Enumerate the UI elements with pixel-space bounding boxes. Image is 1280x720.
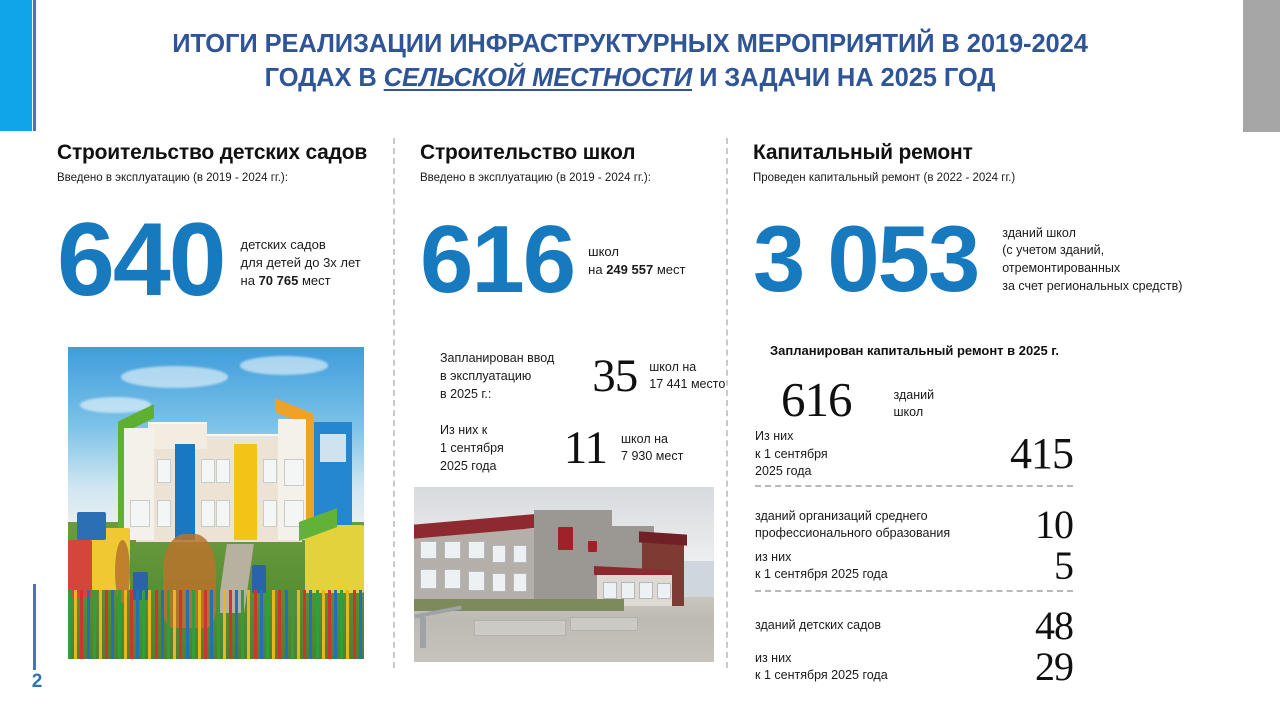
unit-line-1: школ на bbox=[621, 432, 668, 446]
schools-planned-2025-label: Запланирован ввод в эксплуатацию в 2025 … bbox=[440, 349, 554, 403]
repairs-caption-line-2: (с учетом зданий, bbox=[1002, 243, 1104, 257]
repairs-row-kindergartens: зданий детских садов 48 bbox=[755, 607, 1073, 645]
repairs-plan-headline: 616 зданий школ bbox=[781, 377, 934, 424]
column-divider-2 bbox=[726, 138, 728, 668]
slide-title-line-1: ИТОГИ РЕАЛИЗАЦИИ ИНФРАСТРУКТУРНЫХ МЕРОПР… bbox=[172, 30, 1088, 58]
repairs-row-label: из них к 1 сентября 2025 года bbox=[755, 650, 888, 685]
photo-window bbox=[639, 582, 653, 600]
text-line-1: из них bbox=[755, 550, 791, 564]
unit-line-2: школ bbox=[894, 405, 924, 419]
column-divider-1 bbox=[393, 138, 395, 668]
unit-line-2: 7 930 мест bbox=[621, 449, 683, 463]
schools-caption-line-1: школ bbox=[588, 244, 619, 259]
page-number: 2 bbox=[24, 672, 50, 691]
slide-title-line-2-after: И ЗАДАЧИ НА 2025 ГОД bbox=[692, 64, 995, 92]
photo-window bbox=[657, 583, 671, 599]
repairs-caption-line-1: зданий школ bbox=[1002, 226, 1076, 240]
photo-window bbox=[130, 500, 150, 527]
text-line-2: профессионального образования bbox=[755, 526, 950, 540]
kindergartens-caption-line-2: для детей до 3х лет bbox=[241, 255, 361, 270]
repairs-hero: 3 053 зданий школ (с учетом зданий, отре… bbox=[753, 216, 1182, 302]
schools-column: Строительство школ Введено в эксплуатаци… bbox=[420, 141, 720, 186]
schools-planned-september-unit: школ на 7 930 мест bbox=[621, 431, 683, 465]
kindergartens-heading: Строительство детских садов bbox=[57, 141, 387, 165]
repairs-big-number: 3 053 bbox=[753, 216, 978, 302]
photo-play-panel bbox=[252, 565, 267, 593]
schools-caption-suffix: мест bbox=[653, 262, 685, 277]
kindergartens-hero: 640 детских садов для детей до 3х лет на… bbox=[57, 213, 361, 309]
schools-planned-2025: Запланирован ввод в эксплуатацию в 2025 … bbox=[440, 349, 725, 403]
kindergartens-column: Строительство детских садов Введено в эк… bbox=[57, 141, 387, 186]
schools-seats-value: 249 557 bbox=[606, 262, 653, 277]
decor-blue-rule-bottom bbox=[33, 584, 36, 670]
schools-caption-prefix: на bbox=[588, 262, 606, 277]
photo-window bbox=[157, 459, 171, 483]
photo-cloud bbox=[240, 356, 329, 375]
text-line-2: к 1 сентября 2025 года bbox=[755, 567, 888, 581]
unit-line-1: школ на bbox=[649, 360, 696, 374]
photo-window bbox=[492, 545, 506, 563]
photo-handrail-post bbox=[420, 617, 426, 649]
text-line-2: к 1 сентября bbox=[755, 447, 828, 461]
school-photo bbox=[414, 487, 714, 662]
photo-school-emblem-small bbox=[588, 541, 597, 552]
schools-heading: Строительство школ bbox=[420, 141, 720, 165]
photo-wing-window-band bbox=[320, 434, 347, 462]
photo-paving bbox=[570, 617, 638, 631]
schools-caption: школ на 249 557 мест bbox=[588, 243, 685, 279]
label-line-3: в 2025 г.: bbox=[440, 387, 491, 401]
photo-stripe-blue bbox=[175, 444, 196, 541]
schools-subheading: Введено в эксплуатацию (в 2019 - 2024 гг… bbox=[420, 172, 720, 186]
kindergartens-big-number: 640 bbox=[57, 213, 225, 309]
schools-big-number: 616 bbox=[420, 216, 574, 304]
text-line-1: из них bbox=[755, 651, 791, 665]
schools-hero: 616 школ на 249 557 мест bbox=[420, 216, 685, 304]
photo-window bbox=[420, 569, 437, 589]
photo-window bbox=[263, 459, 277, 483]
decor-gray-block bbox=[1243, 0, 1280, 132]
text-line-1: зданий организаций среднего bbox=[755, 509, 928, 523]
photo-window bbox=[444, 569, 461, 589]
photo-window bbox=[216, 459, 230, 483]
photo-window bbox=[603, 582, 617, 600]
photo-window bbox=[284, 459, 304, 486]
repairs-row-value: 29 bbox=[1035, 648, 1073, 686]
label-line-2: 1 сентября bbox=[440, 441, 504, 455]
repairs-separator-2 bbox=[755, 590, 1073, 592]
repairs-row-label: из них к 1 сентября 2025 года bbox=[755, 549, 888, 584]
text-line-3: 2025 года bbox=[755, 464, 812, 478]
repairs-subheading: Проведен капитальный ремонт (в 2022 - 20… bbox=[753, 172, 1253, 186]
photo-paving bbox=[474, 620, 566, 636]
photo-cloud bbox=[121, 366, 228, 388]
label-line-1: Запланирован ввод bbox=[440, 351, 554, 365]
kindergarten-photo bbox=[68, 347, 364, 659]
text-line-1: Из них bbox=[755, 429, 793, 443]
schools-planned-2025-value: 35 bbox=[592, 354, 637, 399]
schools-planned-september-value: 11 bbox=[564, 426, 607, 471]
photo-window bbox=[468, 541, 485, 559]
photo-window bbox=[513, 573, 527, 593]
repairs-row-value: 10 bbox=[1035, 506, 1073, 544]
label-line-3: 2025 года bbox=[440, 459, 497, 473]
repairs-row-vocational-september: из них к 1 сентября 2025 года 5 bbox=[755, 547, 1073, 585]
repairs-caption-line-3: отремонтированных bbox=[1002, 261, 1120, 275]
repairs-caption: зданий школ (с учетом зданий, отремонтир… bbox=[1002, 225, 1182, 296]
photo-window bbox=[201, 500, 215, 527]
label-line-2: в эксплуатацию bbox=[440, 369, 531, 383]
repairs-row-kindergartens-september: из них к 1 сентября 2025 года 29 bbox=[755, 648, 1073, 686]
unit-line-2: 17 441 место bbox=[649, 377, 725, 391]
repairs-plan-title: Запланирован капитальный ремонт в 2025 г… bbox=[770, 343, 1059, 358]
repairs-column: Капитальный ремонт Проведен капитальный … bbox=[753, 141, 1253, 186]
photo-playset bbox=[77, 512, 107, 540]
decor-cyan-block bbox=[0, 0, 32, 131]
repairs-separator-1 bbox=[755, 485, 1073, 487]
text-line-1: зданий детских садов bbox=[755, 618, 881, 632]
kindergartens-seats-value: 70 765 bbox=[259, 273, 299, 288]
slide-title: ИТОГИ РЕАЛИЗАЦИИ ИНФРАСТРУКТУРНЫХ МЕРОПР… bbox=[60, 28, 1200, 96]
text-line-2: к 1 сентября 2025 года bbox=[755, 668, 888, 682]
slide-title-line-2-before: ГОДАХ В bbox=[265, 64, 384, 92]
photo-playset bbox=[68, 540, 92, 596]
photo-window bbox=[444, 541, 461, 559]
photo-window bbox=[513, 545, 527, 563]
photo-window bbox=[263, 500, 277, 527]
kindergartens-caption-prefix: на bbox=[241, 273, 259, 288]
repairs-row-label: зданий детских садов bbox=[755, 617, 881, 635]
repairs-plan-headline-value: 616 bbox=[781, 377, 852, 424]
photo-stripe-yellow bbox=[234, 444, 258, 541]
repairs-caption-line-4: за счет региональных средств) bbox=[1002, 279, 1182, 293]
photo-window bbox=[420, 541, 437, 559]
kindergartens-subheading: Введено в эксплуатацию (в 2019 - 2024 гг… bbox=[57, 172, 387, 186]
kindergartens-caption-suffix: мест bbox=[298, 273, 330, 288]
slide-title-emphasis: СЕЛЬСКОЙ МЕСТНОСТИ bbox=[384, 64, 692, 92]
repairs-row-label: Из них к 1 сентября 2025 года bbox=[755, 428, 828, 481]
repairs-row-value: 5 bbox=[1054, 547, 1073, 585]
photo-window bbox=[216, 500, 230, 527]
photo-window bbox=[492, 573, 506, 593]
schools-planned-september-label: Из них к 1 сентября 2025 года bbox=[440, 421, 504, 475]
photo-window bbox=[468, 571, 485, 591]
repairs-row-schools-september: Из них к 1 сентября 2025 года 415 bbox=[755, 428, 1073, 481]
repairs-heading: Капитальный ремонт bbox=[753, 141, 1253, 165]
unit-line-1: зданий bbox=[894, 388, 935, 402]
repairs-row-vocational: зданий организаций среднего профессионал… bbox=[755, 506, 1073, 544]
repairs-row-value: 415 bbox=[1010, 433, 1073, 475]
photo-school-emblem bbox=[558, 527, 573, 550]
schools-planned-september: Из них к 1 сентября 2025 года 11 школ на… bbox=[440, 421, 683, 475]
slide-canvas: 2 ИТОГИ РЕАЛИЗАЦИИ ИНФРАСТРУКТУРНЫХ МЕРО… bbox=[0, 0, 1280, 720]
repairs-row-label: зданий организаций среднего профессионал… bbox=[755, 508, 950, 543]
photo-fence bbox=[68, 590, 364, 659]
photo-window bbox=[201, 459, 215, 483]
schools-planned-2025-unit: школ на 17 441 место bbox=[649, 359, 725, 393]
photo-window bbox=[157, 500, 171, 527]
decor-blue-rule-top bbox=[33, 0, 36, 131]
label-line-1: Из них к bbox=[440, 423, 487, 437]
repairs-row-value: 48 bbox=[1035, 607, 1073, 645]
repairs-plan-headline-unit: зданий школ bbox=[894, 387, 935, 421]
photo-window bbox=[621, 582, 635, 600]
kindergartens-caption-line-1: детских садов bbox=[241, 237, 326, 252]
kindergartens-caption: детских садов для детей до 3х лет на 70 … bbox=[241, 236, 361, 290]
